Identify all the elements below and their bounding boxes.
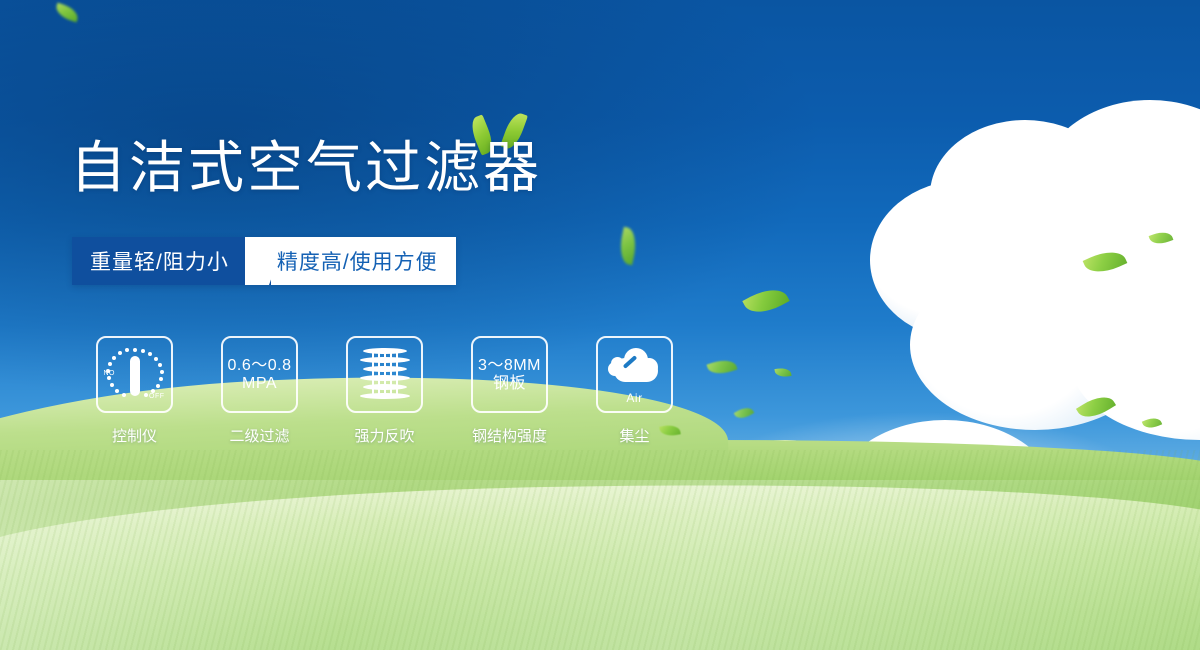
tagline-right: 精度高/使用方便 [271,237,456,285]
feature-icon-box: 3〜8MM 钢板 [471,336,548,413]
page-title: 自洁式空气过滤器 [70,140,542,196]
feature-caption: 强力反吹 [354,425,414,446]
product-banner: 自洁式空气过滤器 重量轻/阻力小 精度高/使用方便 [0,0,1200,650]
feature-icon-box: 0.6〜0.8 MPA [221,336,298,413]
dial-needle [130,356,140,396]
feature-icon-box: Air [596,336,673,413]
steel-text-icon-line1: 3〜8MM [478,357,541,375]
tagline-bar: 重量轻/阻力小 精度高/使用方便 [72,237,456,285]
feature-caption: 控制仪 [112,425,157,446]
feature-caption: 二级过滤 [229,425,289,446]
feature-icon-box: NO OFF [96,336,173,413]
feature-item-controller[interactable]: NO OFF 控制仪 [72,336,197,446]
cloud-air-icon [606,344,664,390]
feature-item-filtration[interactable]: 0.6〜0.8 MPA 二级过滤 [197,336,322,446]
feature-item-blowback[interactable]: 强力反吹 [322,336,447,446]
feature-item-steel[interactable]: 3〜8MM 钢板 钢结构强度 [447,336,572,446]
tagline-left: 重量轻/阻力小 [72,237,245,285]
feature-caption: 集尘 [619,425,649,446]
pressure-text-icon-line1: 0.6〜0.8 [228,357,292,375]
tagline-divider [245,237,271,285]
feature-list: NO OFF 控制仪 0.6〜0.8 MPA 二级过滤 [72,336,697,446]
feature-caption: 钢结构强度 [472,425,547,446]
dial-label-no: NO [104,370,116,377]
grass-texture [0,450,1200,650]
filter-stack-icon [359,348,411,402]
feature-item-dust[interactable]: Air 集尘 [572,336,697,446]
dial-label-off: OFF [149,393,165,400]
pressure-text-icon-line2: MPA [242,375,277,393]
feature-icon-box [346,336,423,413]
steel-text-icon-line2: 钢板 [493,375,526,393]
cloud-air-icon-label: Air [626,391,642,405]
dial-gauge-icon: NO OFF [104,346,166,404]
